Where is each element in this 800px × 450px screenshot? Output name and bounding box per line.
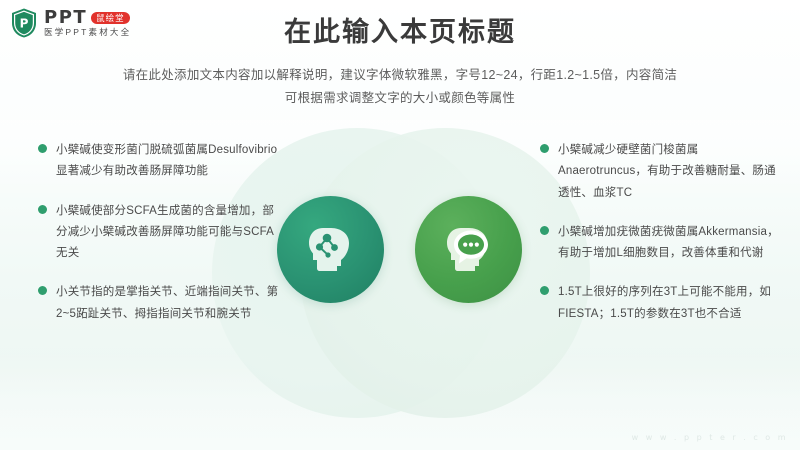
slide-canvas: P PPT 鼠绘堂 医学PPT素材大全 在此输入本页标题 请在此处添加文本内容加…: [0, 0, 800, 450]
page-title: 在此输入本页标题: [0, 16, 800, 50]
center-circle-left[interactable]: [277, 196, 384, 303]
subtitle-line-2: 可根据需求调整文字的大小或颜色等属性: [0, 87, 800, 110]
list-item: 小檗碱增加疣微菌疣微菌属Akkermansia，有助于增加L细胞数目，改善体重和…: [540, 222, 783, 265]
bullet-text: 1.5T上很好的序列在3T上可能不能用，如FIESTA；1.5T的参数在3T也不…: [558, 282, 783, 325]
list-item: 小关节指的是掌指关节、近端指间关节、第2~5跖趾关节、拇指指间关节和腕关节: [38, 282, 281, 325]
bullet-dot-icon: [38, 205, 47, 214]
bullet-column-left: 小檗碱使变形菌门脱硫弧菌属Desulfovibrio显著减少有助改善肠屏障功能 …: [38, 140, 281, 343]
footer-watermark: w w w . p p t e r . c o m: [632, 433, 788, 442]
bullet-dot-icon: [38, 144, 47, 153]
bullet-text: 小檗碱增加疣微菌疣微菌属Akkermansia，有助于增加L细胞数目，改善体重和…: [558, 222, 783, 265]
bullet-text: 小檗碱减少硬壁菌门梭菌属Anaerotruncus，有助于改善糖耐量、肠通透性、…: [558, 140, 783, 204]
list-item: 小檗碱减少硬壁菌门梭菌属Anaerotruncus，有助于改善糖耐量、肠通透性、…: [540, 140, 783, 204]
bullet-dot-icon: [540, 144, 549, 153]
list-item: 小檗碱使部分SCFA生成菌的含量增加，部分减少小檗碱改善肠屏障功能可能与SCFA…: [38, 201, 281, 265]
bullet-text: 小檗碱使变形菌门脱硫弧菌属Desulfovibrio显著减少有助改善肠屏障功能: [56, 140, 281, 183]
bullet-dot-icon: [540, 226, 549, 235]
bullet-text: 小关节指的是掌指关节、近端指间关节、第2~5跖趾关节、拇指指间关节和腕关节: [56, 282, 281, 325]
head-speech-bubble-icon: [441, 222, 497, 278]
center-circle-right[interactable]: [415, 196, 522, 303]
bullet-dot-icon: [38, 286, 47, 295]
subtitle-line-1: 请在此处添加文本内容加以解释说明，建议字体微软雅黑，字号12~24，行距1.2~…: [0, 64, 800, 87]
bullet-text: 小檗碱使部分SCFA生成菌的含量增加，部分减少小檗碱改善肠屏障功能可能与SCFA…: [56, 201, 281, 265]
list-item: 1.5T上很好的序列在3T上可能不能用，如FIESTA；1.5T的参数在3T也不…: [540, 282, 783, 325]
bullet-dot-icon: [540, 286, 549, 295]
head-molecule-icon: [303, 222, 359, 278]
bullet-column-right: 小檗碱减少硬壁菌门梭菌属Anaerotruncus，有助于改善糖耐量、肠通透性、…: [540, 140, 783, 343]
list-item: 小檗碱使变形菌门脱硫弧菌属Desulfovibrio显著减少有助改善肠屏障功能: [38, 140, 281, 183]
page-subtitle: 请在此处添加文本内容加以解释说明，建议字体微软雅黑，字号12~24，行距1.2~…: [0, 64, 800, 110]
